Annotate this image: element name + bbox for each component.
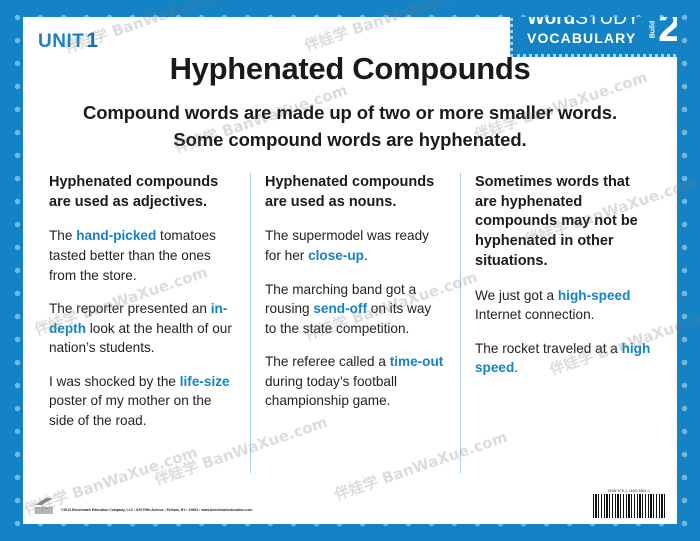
worksheet-page: UNIT1 WordSTUDY VOCABULARY Build 2 Hyphe…	[0, 0, 700, 541]
highlighted-compound-word: hand-picked	[76, 228, 156, 243]
barcode-icon	[593, 494, 665, 518]
page-title: Hyphenated Compounds	[23, 51, 677, 87]
unit-label: UNIT1	[38, 29, 99, 53]
isbn-block: ISBN 978-1-4509-3894-1	[593, 489, 665, 518]
highlighted-compound-word: time-out	[390, 354, 444, 369]
sentence-text-before: We just got a	[475, 288, 558, 303]
example-sentence: We just got a high-speed Internet connec…	[475, 286, 651, 325]
sentence-text-before: The	[49, 228, 76, 243]
logo-build-label: Build	[649, 21, 656, 39]
sentence-text-before: The reporter presented an	[49, 301, 211, 316]
column-heading: Hyphenated compounds are used as adjecti…	[49, 173, 236, 212]
logo-title: WordSTUDY	[527, 17, 640, 28]
worksheet-card: UNIT1 WordSTUDY VOCABULARY Build 2 Hyphe…	[23, 17, 677, 524]
example-sentence: I was shocked by the life-size poster of…	[49, 372, 236, 431]
isbn-text: ISBN 978-1-4509-3894-1	[593, 489, 665, 493]
highlighted-compound-word: high-speed	[558, 288, 631, 303]
example-sentence: The hand-picked tomatoes tasted better t…	[49, 226, 236, 285]
logo-text: WordSTUDY VOCABULARY	[527, 17, 640, 45]
highlighted-compound-word: close-up	[308, 248, 364, 263]
footer: ©2013 Benchmark Education Company, LLC •…	[23, 484, 677, 524]
column-heading: Sometimes words that are hyphenated comp…	[475, 173, 651, 272]
logo-word: Word	[527, 17, 575, 29]
example-sentence: The referee called a time-out during tod…	[265, 352, 446, 411]
sentence-text-after: Internet connection.	[475, 307, 594, 322]
subtitle-line-2: Some compound words are hyphenated.	[23, 126, 677, 153]
content-columns: Hyphenated compounds are used as adjecti…	[35, 173, 665, 473]
logo-study: STUDY	[575, 17, 639, 29]
logo-subtitle: VOCABULARY	[527, 31, 640, 45]
sentence-text-after: .	[364, 248, 368, 263]
sentence-text-before: The referee called a	[265, 354, 390, 369]
unit-word: UNIT	[38, 31, 84, 52]
content-column-3: Sometimes words that are hyphenated comp…	[460, 173, 665, 473]
subtitle-line-1: Compound words are made up of two or mor…	[23, 99, 677, 126]
copyright-text: ©2013 Benchmark Education Company, LLC •…	[61, 508, 252, 512]
highlighted-compound-word: send-off	[313, 301, 367, 316]
logo-level-badge: Build 2	[644, 17, 677, 45]
subtitle-block: Compound words are made up of two or mor…	[23, 99, 677, 153]
logo-level-number: 2	[658, 17, 677, 45]
example-sentence: The supermodel was ready for her close-u…	[265, 226, 446, 265]
example-sentence: The marching band got a rousing send-off…	[265, 280, 446, 339]
column-heading: Hyphenated compounds are used as nouns.	[265, 173, 446, 212]
sentence-text-after: .	[514, 360, 518, 375]
sentence-text-before: The rocket traveled at a	[475, 341, 622, 356]
unit-number: 1	[86, 29, 98, 52]
publisher-logo-icon	[35, 498, 53, 514]
sentence-text-before: I was shocked by the	[49, 374, 180, 389]
highlighted-compound-word: life-size	[180, 374, 230, 389]
example-sentence: The rocket traveled at a high speed.	[475, 339, 651, 378]
example-sentence: The reporter presented an in-depth look …	[49, 299, 236, 358]
sentence-text-after: poster of my mother on the side of the r…	[49, 393, 211, 428]
sentence-text-after: during today’s football championship gam…	[265, 374, 397, 409]
content-column-2: Hyphenated compounds are used as nouns.T…	[250, 173, 460, 473]
content-column-1: Hyphenated compounds are used as adjecti…	[35, 173, 250, 473]
